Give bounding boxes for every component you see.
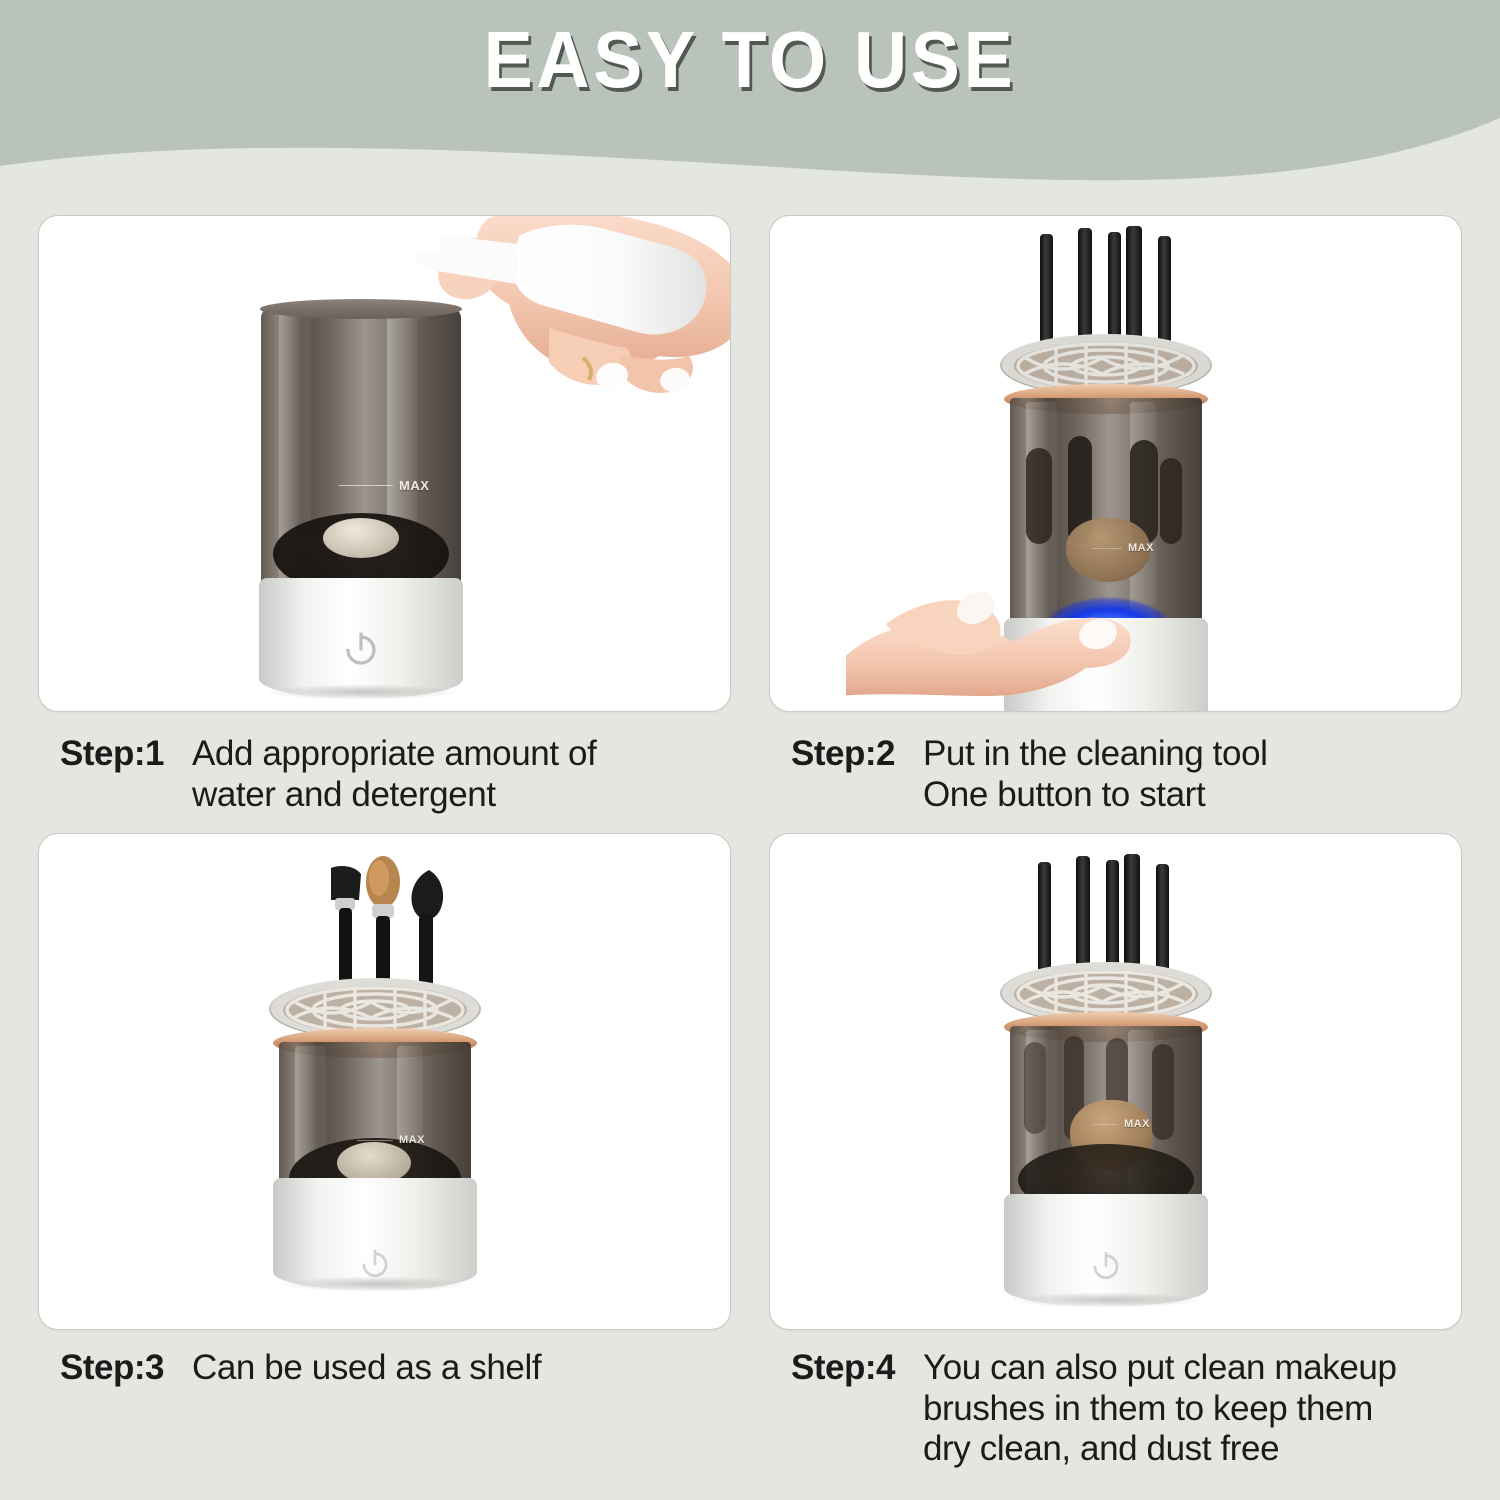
step-2-text: Put in the cleaning tool One button to s…: [923, 734, 1268, 815]
power-icon[interactable]: [341, 628, 381, 668]
step-4-text: You can also put clean makeup brushes in…: [923, 1348, 1397, 1470]
brush-cleaner-device-3: MAX: [275, 860, 475, 1320]
steps-row-2: MAX Step:3 Can be used as a shelf: [38, 833, 1462, 1470]
step-4-label: Step:4: [791, 1348, 895, 1389]
power-icon[interactable]: [358, 1246, 392, 1280]
max-label: MAX: [399, 1134, 425, 1146]
step-2-caption: Step:2 Put in the cleaning tool One butt…: [769, 712, 1462, 815]
step-4-image: MAX: [769, 833, 1462, 1330]
step-3-caption: Step:3 Can be used as a shelf: [38, 1330, 731, 1389]
max-level-marker: MAX: [339, 478, 429, 493]
step-2-image: MAX: [769, 215, 1462, 712]
step-1-label: Step:1: [60, 734, 164, 775]
max-level-marker: MAX: [1092, 1118, 1150, 1130]
page-title: EASY TO USE: [60, 14, 1440, 106]
easy-to-use-infographic: EASY TO USE: [0, 0, 1500, 1500]
impeller-blade: [323, 518, 399, 558]
steps-grid: MAX Step:1 Add appropriate amount of wat…: [38, 215, 1462, 1470]
steps-row-1: MAX Step:1 Add appropriate amount of wat…: [38, 215, 1462, 815]
step-3-text: Can be used as a shelf: [192, 1348, 541, 1389]
max-label: MAX: [399, 478, 429, 493]
step-card-1: MAX Step:1 Add appropriate amount of wat…: [38, 215, 731, 815]
step-card-4: MAX Step:4 You can also put clean makeu: [769, 833, 1462, 1470]
power-icon[interactable]: [1089, 1248, 1123, 1282]
tank-rim: [260, 299, 462, 319]
max-level-marker: MAX: [357, 1134, 425, 1146]
step-1-image: MAX: [38, 215, 731, 712]
step-card-3: MAX Step:3 Can be used as a shelf: [38, 833, 731, 1470]
brush-cleaner-device-4: MAX: [1006, 852, 1206, 1322]
step-card-2: MAX: [769, 215, 1462, 815]
step-3-image: MAX: [38, 833, 731, 1330]
hand-pressing-power-button: [846, 546, 1176, 712]
brush-cleaner-device-1: MAX: [261, 308, 461, 698]
max-line: [1092, 1124, 1118, 1125]
max-label: MAX: [1124, 1118, 1150, 1130]
step-2-label: Step:2: [791, 734, 895, 775]
header-band: EASY TO USE: [0, 0, 1500, 230]
max-line: [339, 485, 393, 486]
step-1-text: Add appropriate amount of water and dete…: [192, 734, 596, 815]
step-3-label: Step:3: [60, 1348, 164, 1389]
step-1-caption: Step:1 Add appropriate amount of water a…: [38, 712, 731, 815]
max-line: [357, 1140, 393, 1141]
step-4-caption: Step:4 You can also put clean makeup bru…: [769, 1330, 1462, 1470]
